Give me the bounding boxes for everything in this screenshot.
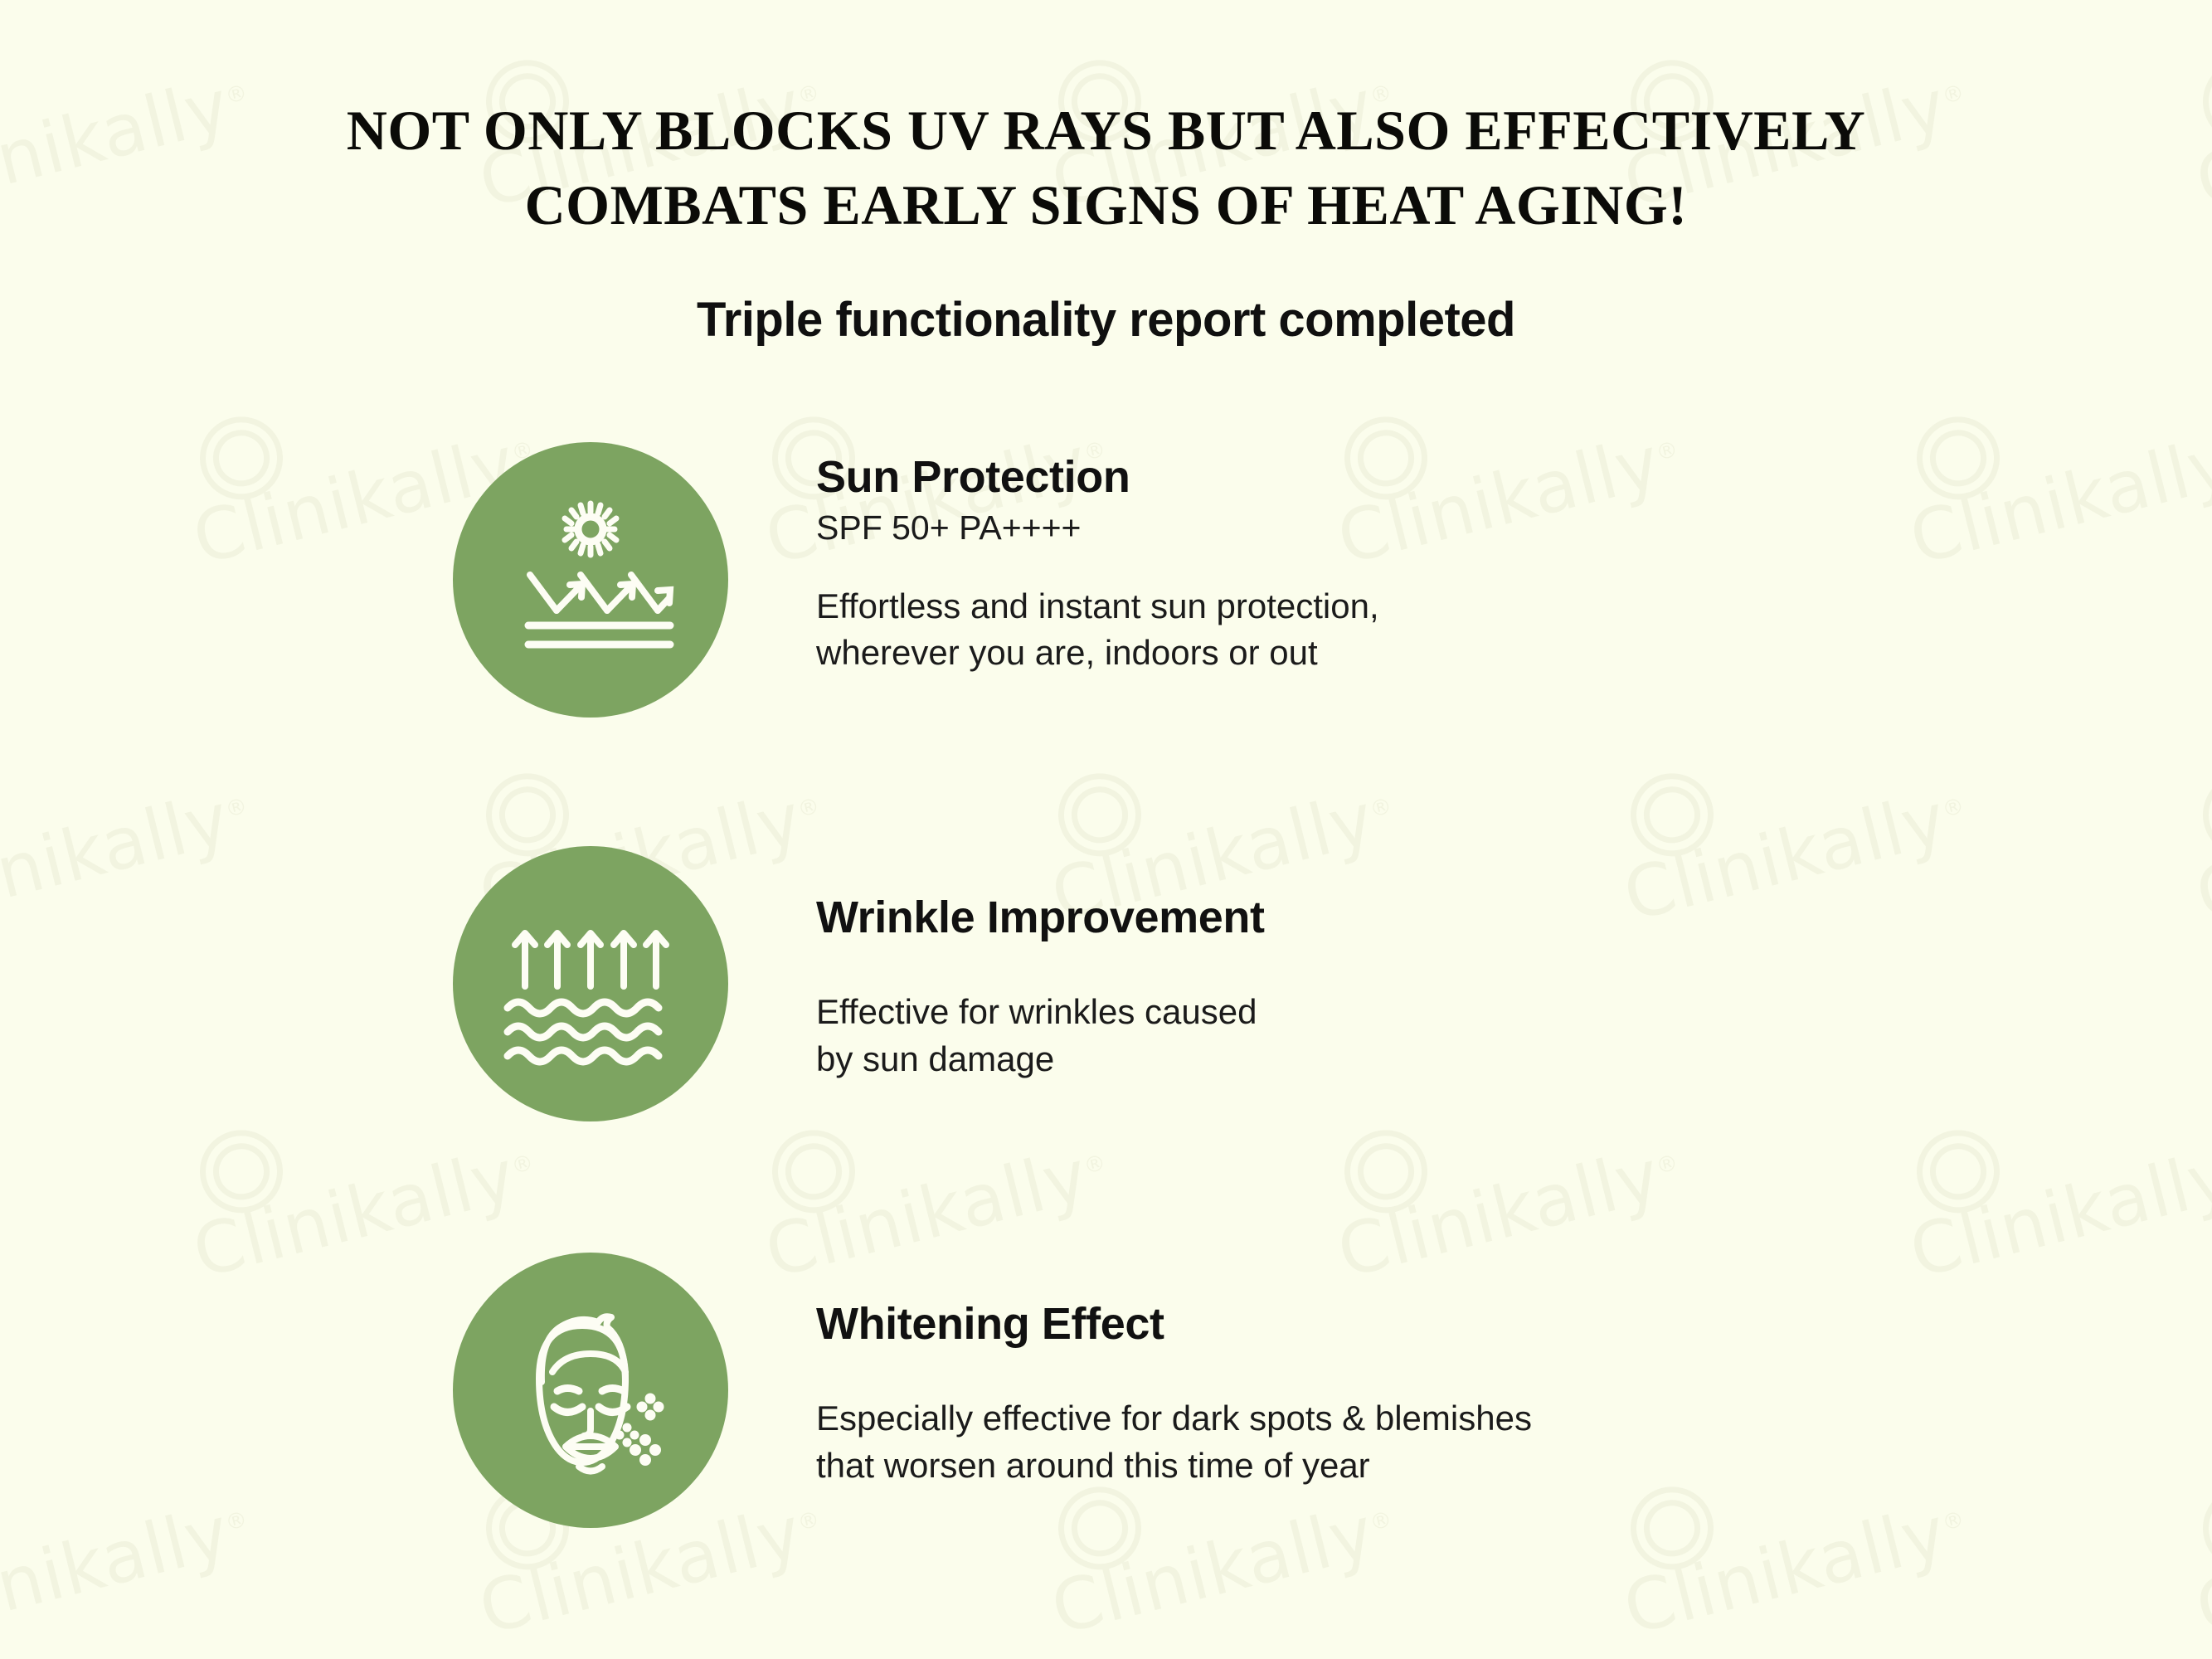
headline-line-2: COMBATS EARLY SIGNS OF HEAT AGING! (0, 168, 2212, 243)
page-headline: NOT ONLY BLOCKS UV RAYS BUT ALSO EFFECTI… (0, 94, 2212, 243)
nose-glyph (584, 1411, 591, 1436)
chin-crease-glyph (579, 1467, 602, 1472)
headline-line-1: NOT ONLY BLOCKS UV RAYS BUT ALSO EFFECTI… (0, 94, 2212, 168)
feature-description-line-1: Effective for wrinkles caused (816, 989, 1994, 1036)
feature-title: Sun Protection (816, 452, 1994, 502)
sun-protection-icon-badge (453, 442, 728, 718)
feature-description-line-1: Especially effective for dark spots & bl… (816, 1395, 1994, 1443)
feature-description: Effortless and instant sun protection, w… (816, 583, 1994, 677)
feature-description-line-2: wherever you are, indoors or out (816, 630, 1994, 677)
feature-description-line-2: by sun damage (816, 1036, 1994, 1083)
feature-row: Wrinkle Improvement Effective for wrinkl… (453, 846, 2029, 1121)
wrinkle-waves-glyph (508, 1002, 659, 1062)
promo-panel: NOT ONLY BLOCKS UV RAYS BUT ALSO EFFECTI… (0, 0, 2212, 1659)
feature-title: Whitening Effect (816, 1299, 1994, 1349)
eyebrows-glyph (557, 1389, 624, 1392)
sun-glyph (565, 504, 616, 555)
feature-description-line-2: that worsen around this time of year (816, 1443, 1994, 1490)
whitening-effect-icon (503, 1302, 678, 1478)
feature-row: Sun Protection SPF 50+ PA++++ Effortless… (453, 442, 2029, 718)
sun-protection-icon (503, 493, 678, 667)
feature-row: Whitening Effect Especially effective fo… (453, 1253, 2029, 1528)
reflected-rays-glyph (530, 575, 670, 611)
up-arrows-glyph (515, 933, 666, 986)
wrinkle-improvement-icon-badge (453, 846, 728, 1121)
feature-text-block: Whitening Effect Especially effective fo… (816, 1299, 1994, 1490)
lips-glyph (566, 1436, 615, 1458)
page-subheadline: Triple functionality report completed (0, 292, 2212, 348)
sparkle-1 (637, 1394, 664, 1421)
feature-subtitle: SPF 50+ PA++++ (816, 507, 1994, 549)
feature-text-block: Wrinkle Improvement Effective for wrinkl… (816, 893, 1994, 1083)
feature-description: Effective for wrinkles caused by sun dam… (816, 989, 1994, 1082)
whitening-effect-icon-badge (453, 1253, 728, 1528)
wrinkle-improvement-icon (503, 897, 678, 1071)
surface-lines-glyph (528, 625, 670, 645)
feature-description-line-1: Effortless and instant sun protection, (816, 583, 1994, 630)
feature-title: Wrinkle Improvement (816, 893, 1994, 942)
feature-text-block: Sun Protection SPF 50+ PA++++ Effortless… (816, 452, 1994, 677)
feature-description: Especially effective for dark spots & bl… (816, 1395, 1994, 1489)
